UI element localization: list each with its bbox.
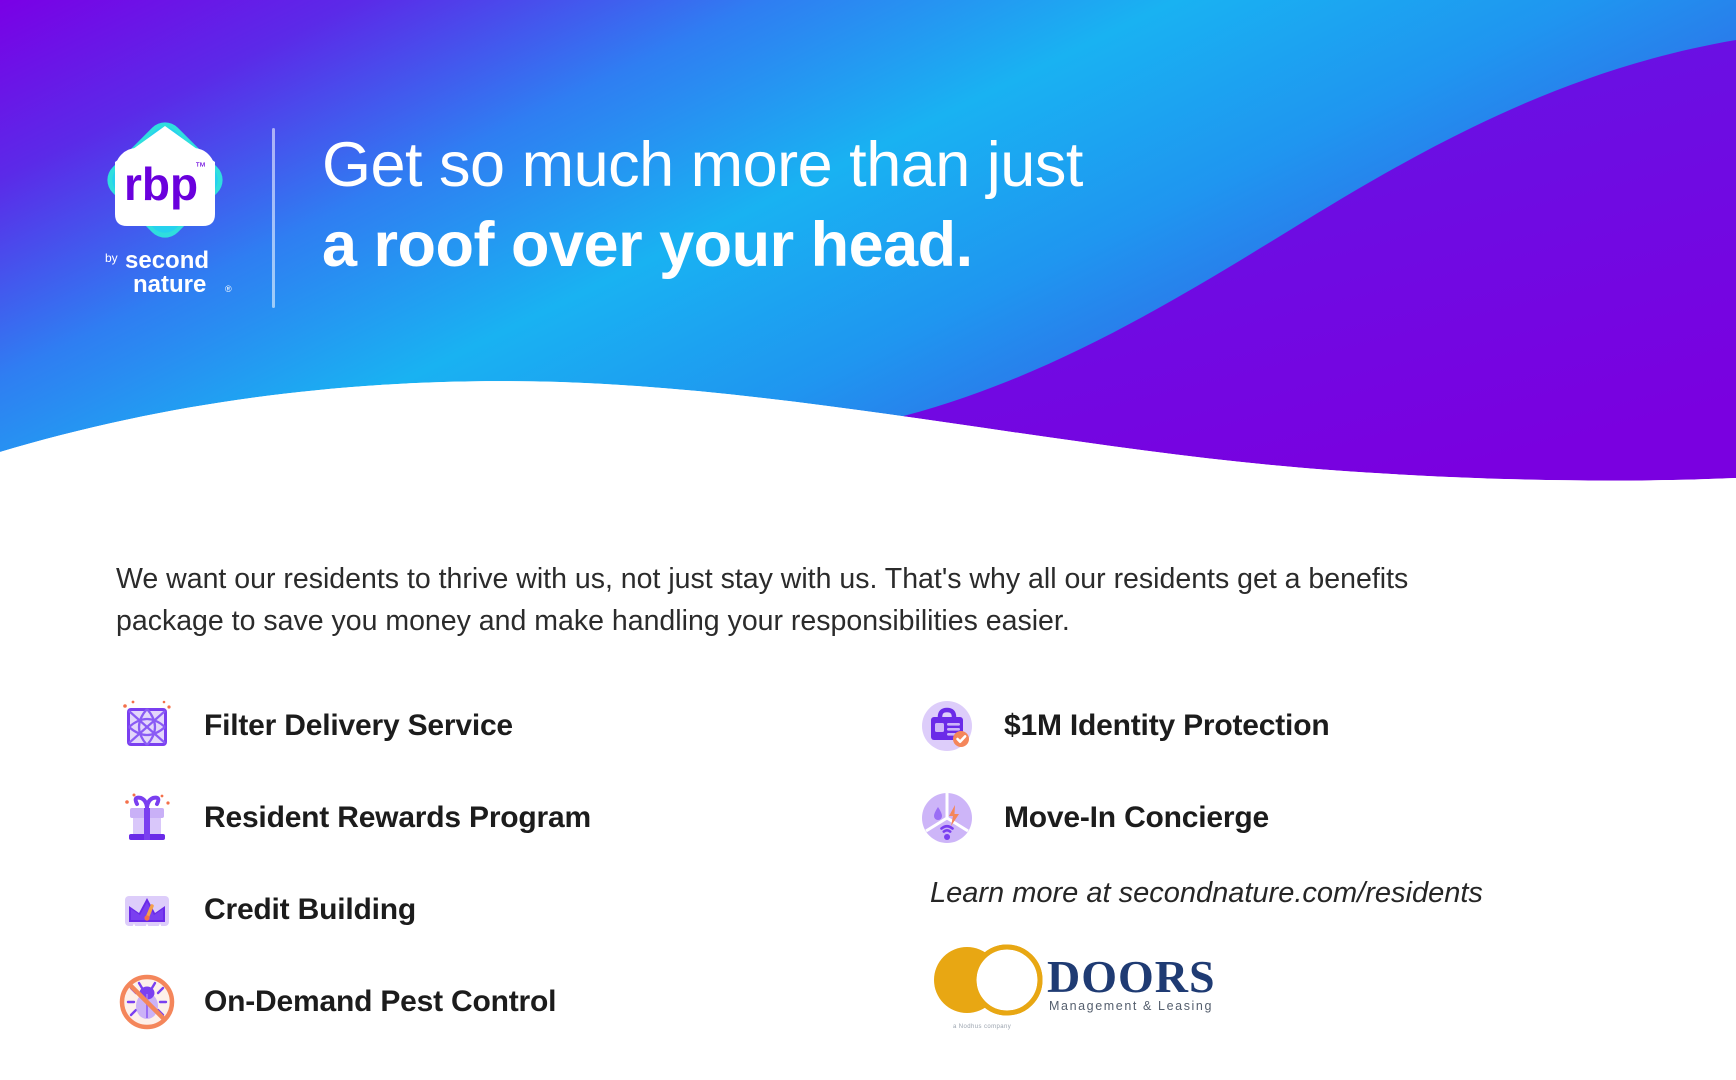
logo-divider xyxy=(272,128,275,308)
flyer-page: rbp ™ by second nature ® Get so much mor… xyxy=(0,0,1736,1080)
benefit-label: Filter Delivery Service xyxy=(204,709,513,743)
benefit-item: On-Demand Pest Control xyxy=(116,956,816,1048)
intro-paragraph: We want our residents to thrive with us,… xyxy=(116,558,1446,642)
benefit-label: Credit Building xyxy=(204,893,416,927)
doors-micro-tagline: a Nodhus company xyxy=(953,1024,1011,1030)
headline-line-2: a roof over your head. xyxy=(322,205,1322,285)
no-pest-bug-icon xyxy=(116,971,178,1033)
second-nature-sublogo: by second nature ® xyxy=(103,246,233,305)
benefit-label: $1M Identity Protection xyxy=(1004,709,1329,743)
rbp-wordmark: rbp xyxy=(124,158,198,210)
headline: Get so much more than just a roof over y… xyxy=(322,125,1322,285)
doors-tagline: Management & Leasing xyxy=(1049,999,1213,1013)
sublogo-second: second xyxy=(125,247,209,274)
benefits-column-left: Filter Delivery Service Resident Rewa xyxy=(116,680,816,1048)
credit-score-gauge-icon xyxy=(116,879,178,941)
gift-box-icon xyxy=(116,787,178,849)
benefit-label: Resident Rewards Program xyxy=(204,801,591,835)
id-badge-shield-icon xyxy=(916,695,978,757)
learn-more-text: Learn more at secondnature.com/residents xyxy=(930,877,1483,910)
benefit-item: $1M Identity Protection xyxy=(916,680,1676,772)
sublogo-registered: ® xyxy=(225,284,232,294)
rbp-trademark: ™ xyxy=(195,161,206,173)
second-nature-lockup: by second nature ® xyxy=(103,246,235,300)
rbp-logo: rbp ™ by second nature ® xyxy=(103,118,243,298)
benefit-label: Move-In Concierge xyxy=(1004,801,1269,835)
benefit-item: Filter Delivery Service xyxy=(116,680,816,772)
doors-partner-logo: DOORS Management & Leasing a Nodhus comp… xyxy=(925,940,1215,1035)
utilities-circle-icon xyxy=(916,787,978,849)
benefit-item: Resident Rewards Program xyxy=(116,772,816,864)
benefit-item: Move-In Concierge xyxy=(916,772,1676,864)
sublogo-by: by xyxy=(105,251,118,265)
sublogo-nature: nature xyxy=(133,271,206,298)
benefit-item: Credit Building xyxy=(116,864,816,956)
headline-line-1: Get so much more than just xyxy=(322,125,1322,205)
benefits-column-right: $1M Identity Protection xyxy=(916,680,1676,864)
doors-wordmark: DOORS xyxy=(1047,951,1215,1002)
benefit-label: On-Demand Pest Control xyxy=(204,985,556,1019)
air-filter-icon xyxy=(116,695,178,757)
rbp-badge-icon: rbp ™ xyxy=(103,118,227,242)
